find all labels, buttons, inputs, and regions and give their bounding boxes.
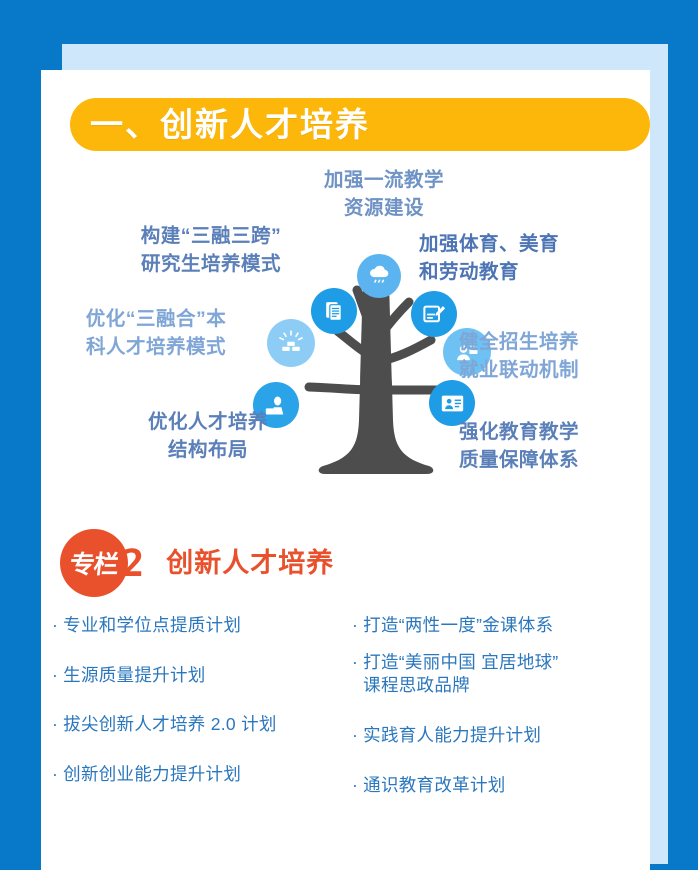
bullet-icon: ·: [352, 724, 358, 748]
bullet-icon: ·: [352, 651, 358, 675]
section-banner: 一、创新人才培养: [70, 98, 650, 151]
tree-label-upper-left: 构建“三融三跨” 研究生培养模式: [101, 222, 321, 279]
list-item-text: 打造“两性一度”金课体系: [363, 614, 553, 638]
documents-icon: [311, 288, 357, 334]
list-item-text: 打造“美丽中国 宜居地球” 课程思政品牌: [363, 651, 558, 698]
tree-label-middle-right: 健全招生培养 就业联动机制: [459, 328, 659, 385]
list-item: · 通识教育改革计划: [352, 774, 642, 798]
tree-label-middle-left: 优化“三融合”本 科人才培养模式: [51, 305, 261, 362]
list-item-text: 实践育人能力提升计划: [363, 724, 541, 748]
bullet-icon: ·: [52, 713, 58, 737]
cloud-rain-icon: [357, 254, 401, 298]
list-item: · 打造“美丽中国 宜居地球” 课程思政品牌: [352, 651, 642, 698]
tree-label-lower-right: 强化教育教学 质量保障体系: [459, 418, 659, 475]
column-number: 2: [122, 545, 144, 582]
tree-diagram: 加强一流教学 资源建设 构建“三融三跨” 研究生培养模式 加强体育、美育 和劳动…: [41, 160, 650, 505]
tree-label-upper-right: 加强体育、美育 和劳动教育: [419, 230, 619, 287]
list-item-text: 拔尖创新人才培养 2.0 计划: [63, 713, 277, 737]
infographic-page: 一、创新人才培养: [0, 0, 698, 853]
list-item: · 生源质量提升计划: [52, 664, 342, 688]
column-badge: 专栏: [60, 529, 128, 597]
list-item: · 拔尖创新人才培养 2.0 计划: [52, 713, 342, 737]
gold-bars-icon: [267, 319, 315, 367]
bullet-icon: ·: [352, 614, 358, 638]
column-header: 专栏 2 创新人才培养: [60, 528, 334, 598]
section-banner-title: 一、创新人才培养: [70, 108, 370, 141]
column-title: 创新人才培养: [166, 550, 334, 577]
plan-list-right: · 打造“两性一度”金课体系 · 打造“美丽中国 宜居地球” 课程思政品牌 · …: [352, 614, 642, 813]
list-item: · 专业和学位点提质计划: [52, 614, 342, 638]
bullet-icon: ·: [352, 774, 358, 798]
tree-label-top: 加强一流教学 资源建设: [284, 166, 484, 223]
list-item-text: 生源质量提升计划: [63, 664, 205, 688]
list-item-text: 创新创业能力提升计划: [63, 763, 241, 787]
list-item: · 创新创业能力提升计划: [52, 763, 342, 787]
tree-label-lower-left: 优化人才培养 结构布局: [103, 408, 313, 465]
list-item: · 打造“两性一度”金课体系: [352, 614, 642, 638]
column-badge-label: 专栏: [56, 529, 132, 597]
bullet-icon: ·: [52, 614, 58, 638]
list-item: · 实践育人能力提升计划: [352, 724, 642, 748]
list-item-text: 通识教育改革计划: [363, 774, 505, 798]
list-item-text: 专业和学位点提质计划: [63, 614, 241, 638]
bullet-icon: ·: [52, 763, 58, 787]
plan-list-left: · 专业和学位点提质计划 · 生源质量提升计划 · 拔尖创新人才培养 2.0 计…: [52, 614, 342, 813]
plan-lists: · 专业和学位点提质计划 · 生源质量提升计划 · 拔尖创新人才培养 2.0 计…: [52, 614, 642, 813]
bullet-icon: ·: [52, 664, 58, 688]
notepad-pen-icon: [411, 291, 457, 337]
